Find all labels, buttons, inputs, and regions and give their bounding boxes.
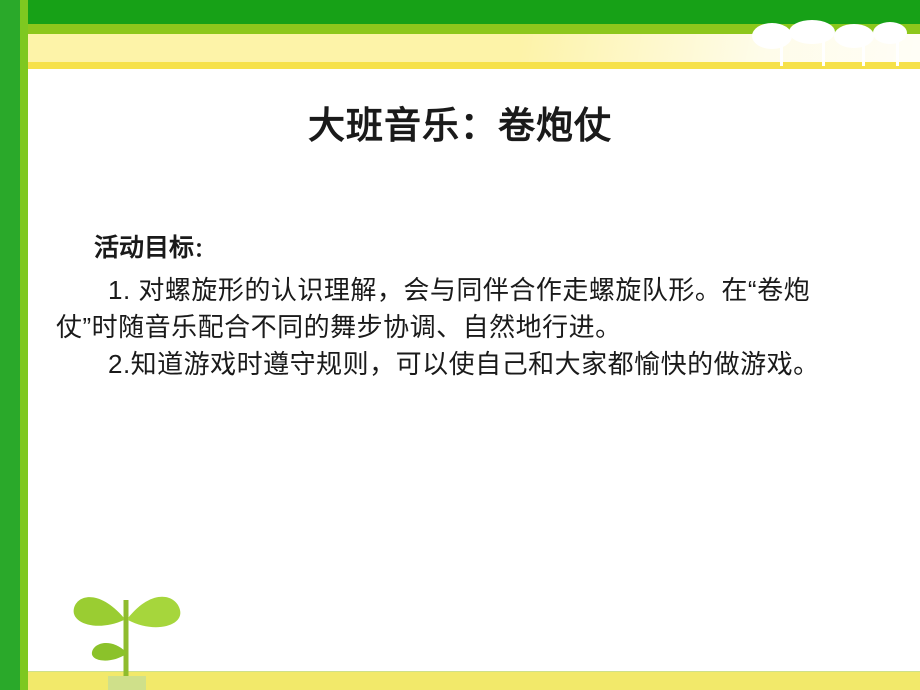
page-title: 大班音乐：卷炮仗 [0, 95, 920, 149]
sprout-plant-icon [60, 560, 200, 690]
section-heading-colon: ： [194, 239, 214, 261]
section-heading-text: 活动目标 [94, 234, 194, 262]
content-block: 活动目标： 1. 对螺旋形的认识理解，会与同伴合作走螺旋队形。在“卷炮仗”时随音… [56, 228, 856, 383]
clover-leaves-icon [750, 20, 910, 66]
goal-paragraph-1: 1. 对螺旋形的认识理解，会与同伴合作走螺旋队形。在“卷炮仗”时随音乐配合不同的… [56, 272, 856, 346]
section-heading: 活动目标： [94, 228, 856, 264]
slide-canvas: 大班音乐：卷炮仗 活动目标： 1. 对螺旋形的认识理解，会与同伴合作走螺旋队形。… [0, 0, 920, 690]
goal-paragraph-2: 2.知道游戏时遵守规则，可以使自己和大家都愉快的做游戏。 [56, 346, 856, 383]
